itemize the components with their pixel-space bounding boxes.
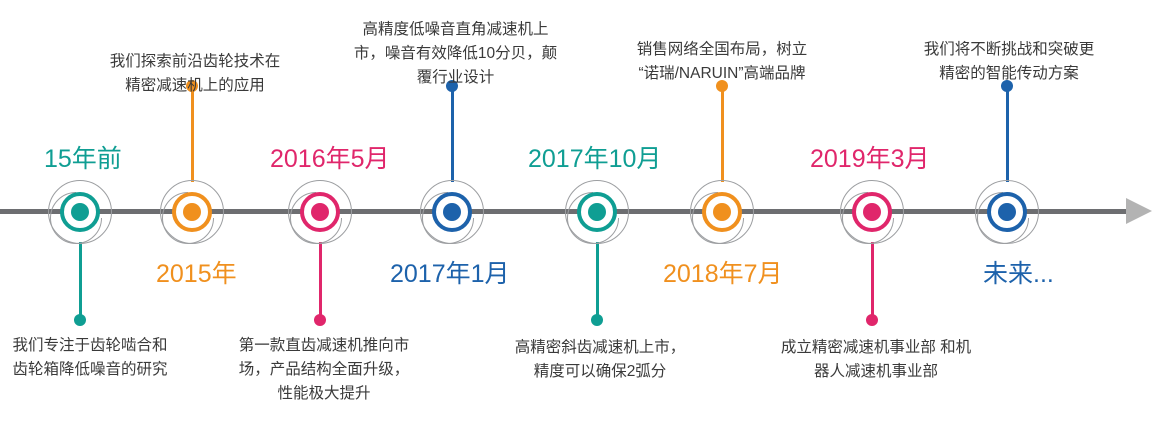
- milestone-description-2: 我们探索前沿齿轮技术在 精密减速机上的应用: [100, 50, 290, 98]
- milestone-description-6: 销售网络全国布局，树立 “诺瑞/NARUIN”高端品牌: [613, 38, 831, 86]
- milestone-description-4: 高精度低噪音直角减速机上 市，噪音有效降低10分贝，颠 覆行业设计: [348, 18, 563, 90]
- milestone-date-3: 2016年5月: [270, 147, 390, 172]
- milestone-date-7: 2019年3月: [810, 147, 930, 172]
- timeline-infographic: 15年前我们专注于齿轮啮合和 齿轮箱降低噪音的研究2015年我们探索前沿齿轮技术…: [0, 0, 1160, 446]
- connector-end-dot-3: [314, 314, 326, 326]
- connector-stem-5: [596, 242, 599, 320]
- connector-end-dot-5: [591, 314, 603, 326]
- connector-end-dot-1: [74, 314, 86, 326]
- connector-stem-1: [79, 242, 82, 320]
- milestone-date-8: 未来...: [983, 262, 1054, 287]
- connector-end-dot-7: [866, 314, 878, 326]
- node-center-dot: [183, 203, 201, 221]
- milestone-description-5: 高精密斜齿减速机上市， 精度可以确保2弧分: [500, 336, 700, 384]
- timeline-arrow-icon: [1126, 198, 1152, 224]
- milestone-description-3: 第一款直齿减速机推向市 场，产品结构全面升级， 性能极大提升: [228, 334, 420, 406]
- milestone-date-6: 2018年7月: [663, 262, 783, 287]
- milestone-description-8: 我们将不断挑战和突破更 精密的智能传动方案: [903, 38, 1115, 86]
- connector-stem-6: [721, 86, 724, 182]
- connector-stem-7: [871, 242, 874, 320]
- connector-stem-3: [319, 242, 322, 320]
- milestone-description-1: 我们专注于齿轮啮合和 齿轮箱降低噪音的研究: [0, 334, 180, 382]
- connector-stem-8: [1006, 86, 1009, 182]
- milestone-date-4: 2017年1月: [390, 262, 510, 287]
- connector-stem-2: [191, 86, 194, 182]
- node-center-dot: [863, 203, 881, 221]
- connector-stem-4: [451, 86, 454, 182]
- milestone-date-5: 2017年10月: [528, 147, 661, 172]
- node-center-dot: [998, 203, 1016, 221]
- node-center-dot: [443, 203, 461, 221]
- milestone-date-1: 15年前: [44, 147, 122, 172]
- node-center-dot: [311, 203, 329, 221]
- node-center-dot: [588, 203, 606, 221]
- milestone-date-2: 2015年: [156, 262, 237, 287]
- node-center-dot: [71, 203, 89, 221]
- milestone-description-7: 成立精密减速机事业部 和机 器人减速机事业部: [770, 336, 982, 384]
- node-center-dot: [713, 203, 731, 221]
